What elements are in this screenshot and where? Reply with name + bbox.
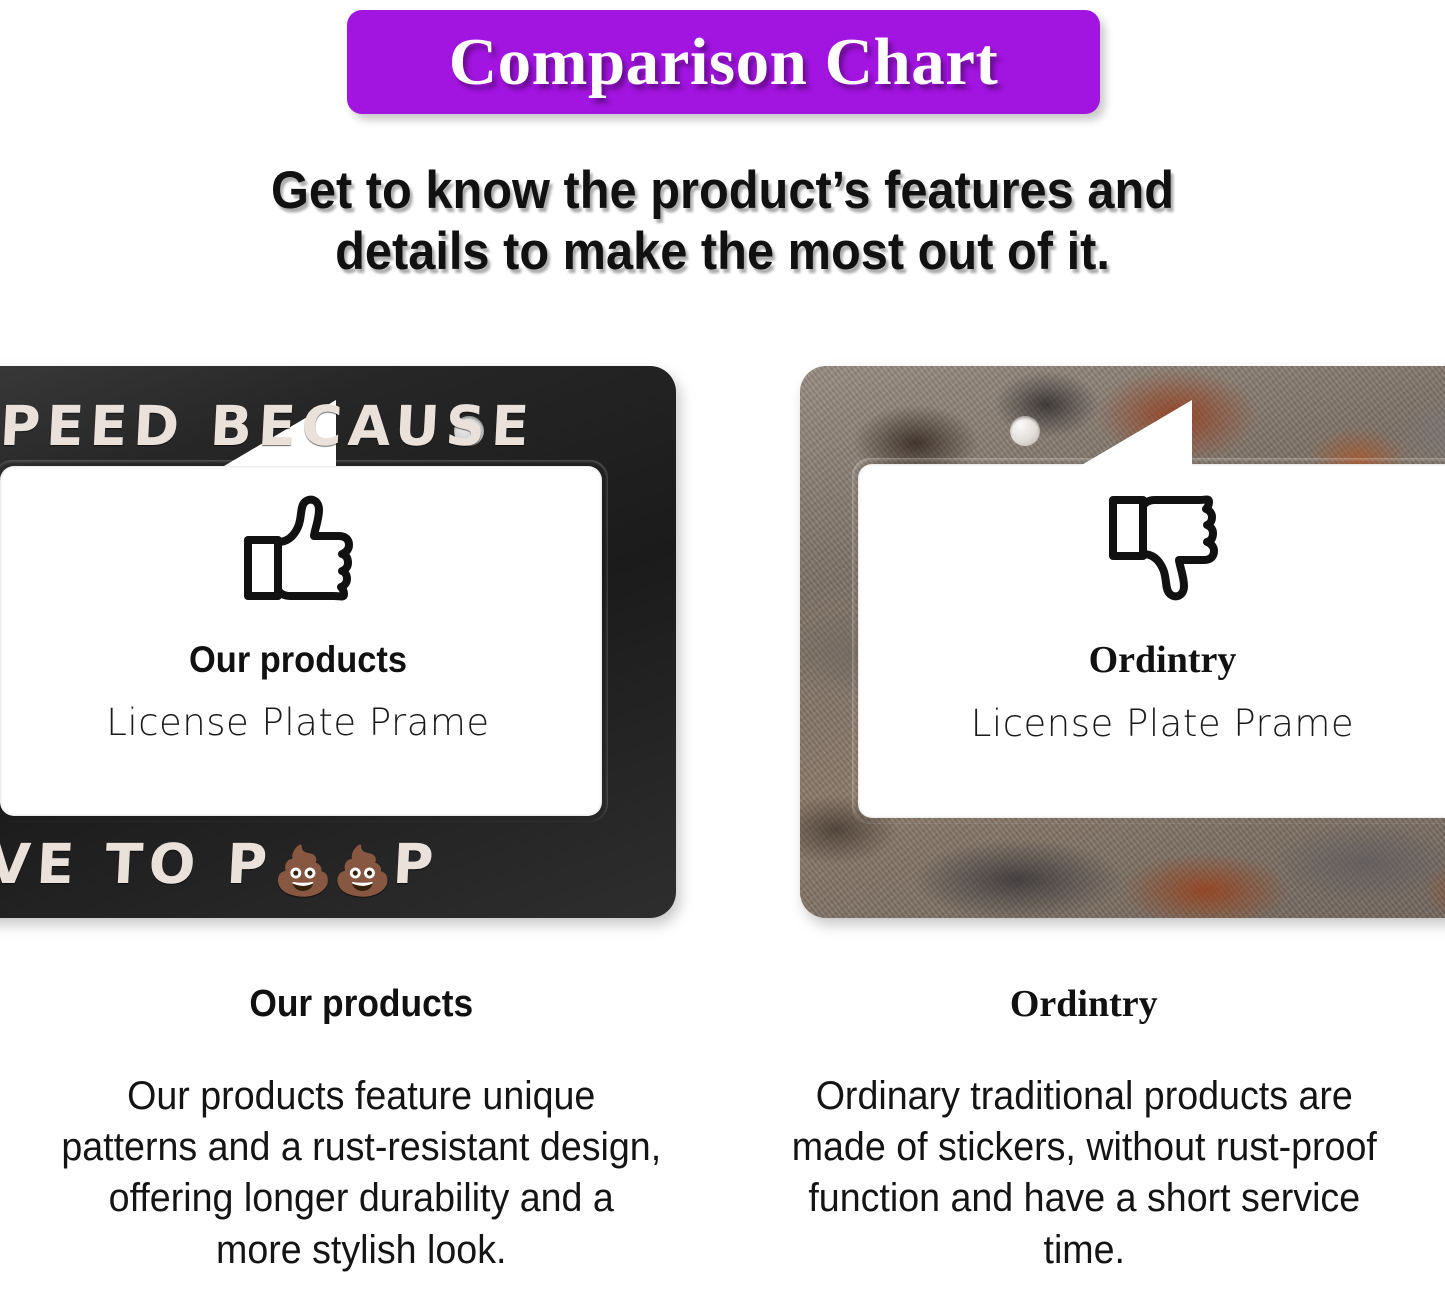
ordinary-frame-chamfer (1080, 400, 1192, 466)
subtitle-line-2: details to make the most out of it. (58, 221, 1387, 282)
our-plate-text-bottom: VE TO P💩💩P (0, 832, 439, 896)
our-product-desc-heading: Our products (64, 985, 658, 1023)
ordinary-product-description-column: Ordintry Ordinary traditional products a… (723, 985, 1445, 1315)
ordinary-product-license-plate-frame: Ordintry License Plate Prame (800, 366, 1445, 918)
ordinary-product-desc-body: Ordinary traditional products are made o… (784, 1071, 1384, 1276)
poop-emoji-glyph-2: 💩 (333, 847, 393, 895)
our-product-license-plate-frame: PEED BECAUSE VE TO P💩💩P Our products Lic… (0, 366, 676, 918)
our-product-description-column: Our products Our products feature unique… (0, 985, 723, 1315)
our-product-desc-body: Our products feature unique patterns and… (61, 1071, 661, 1276)
page-title: Comparison Chart (449, 29, 999, 96)
thumbs-up-icon (0, 494, 676, 607)
ordinary-product-desc-heading: Ordintry (765, 985, 1404, 1023)
plate-bottom-suffix: P (391, 832, 441, 896)
page-subtitle: Get to know the product’s features and d… (58, 160, 1387, 283)
comparison-chart-banner: Comparison Chart (347, 10, 1100, 114)
our-product-window-subtitle: License Plate Prame (0, 704, 676, 741)
subtitle-line-1: Get to know the product’s features and (58, 160, 1387, 221)
our-plate-text-top: PEED BECAUSE (0, 394, 535, 458)
thumbs-down-icon (800, 494, 1445, 607)
description-row: Our products Our products feature unique… (0, 985, 1445, 1315)
our-product-window-title: Our products (0, 641, 650, 678)
poop-emoji-glyph-1: 💩 (273, 847, 333, 895)
ordinary-frame-mounting-hole (1010, 416, 1040, 446)
frame-comparison-row: PEED BECAUSE VE TO P💩💩P Our products Lic… (0, 352, 1445, 932)
ordinary-product-window-subtitle: License Plate Prame (800, 705, 1445, 742)
ordinary-product-window-content: Ordintry License Plate Prame (800, 494, 1445, 742)
our-product-window-content: Our products License Plate Prame (0, 494, 676, 741)
ordinary-product-window-title: Ordintry (800, 641, 1445, 679)
plate-bottom-prefix: VE TO P (0, 832, 275, 896)
